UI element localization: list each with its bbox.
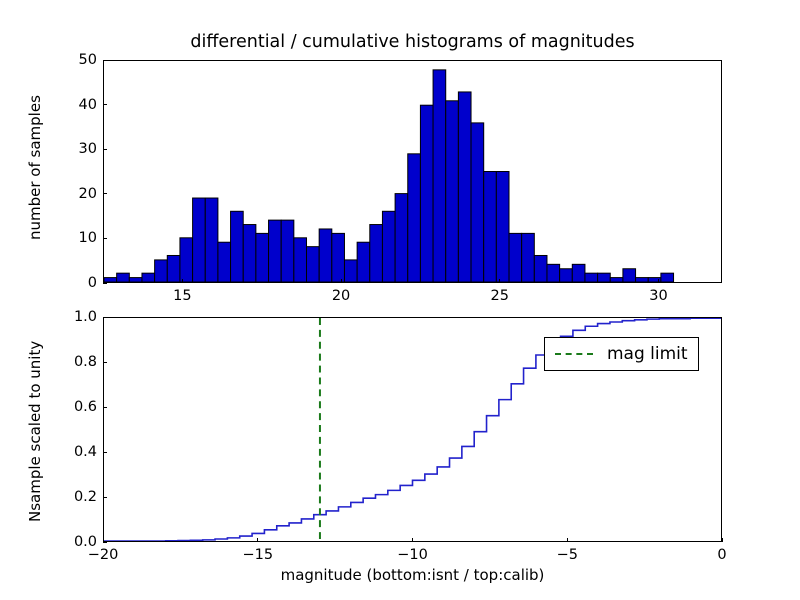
x-tick-label: −15 xyxy=(242,547,273,563)
histogram-bar xyxy=(433,70,446,282)
histogram-bar xyxy=(218,242,231,282)
x-tick-label: 20 xyxy=(332,288,350,304)
histogram-bar xyxy=(585,273,598,282)
y-tickmark xyxy=(103,149,107,150)
cumulative-histogram-axes: mag limit xyxy=(103,317,722,542)
histogram-bar xyxy=(560,269,573,282)
histogram-bar xyxy=(547,264,560,282)
histogram-bar xyxy=(458,92,471,282)
y-tick-label: 0.4 xyxy=(74,444,97,460)
histogram-bar xyxy=(167,255,180,282)
x-tick-label: −20 xyxy=(88,547,119,563)
x-tickmark xyxy=(499,279,500,283)
histogram-bar xyxy=(446,101,459,282)
histogram-bar xyxy=(661,273,674,282)
x-tickmark xyxy=(658,279,659,283)
x-tick-label: 25 xyxy=(491,288,509,304)
bottom-panel-xlabel: magnitude (bottom:isnt / top:calib) xyxy=(103,566,722,584)
histogram-bar xyxy=(129,278,142,282)
histogram-bar xyxy=(332,233,345,282)
histogram-bar xyxy=(142,273,155,282)
legend: mag limit xyxy=(544,337,699,371)
histogram-bar xyxy=(471,123,484,282)
histogram-bar xyxy=(319,229,332,282)
y-tickmark xyxy=(103,452,107,453)
x-tickmark xyxy=(341,279,342,283)
y-tickmark xyxy=(103,407,107,408)
histogram-bar xyxy=(104,278,117,282)
figure-title: differential / cumulative histograms of … xyxy=(103,31,722,53)
differential-histogram-plot xyxy=(104,61,721,282)
y-tick-label: 40 xyxy=(79,97,97,113)
y-tick-label: 0 xyxy=(88,275,97,291)
histogram-bar xyxy=(496,172,509,283)
y-tick-label: 0.8 xyxy=(74,354,97,370)
histogram-bar xyxy=(307,247,320,282)
y-tick-label: 1.0 xyxy=(74,309,97,325)
y-tick-label: 0.2 xyxy=(74,489,97,505)
x-tick-label: −5 xyxy=(557,547,578,563)
top-panel-ylabel: number of samples xyxy=(26,95,44,240)
histogram-bar xyxy=(117,273,130,282)
histogram-bar xyxy=(623,269,636,282)
histogram-bar xyxy=(408,154,421,282)
y-tick-label: 20 xyxy=(79,186,97,202)
mag-limit-line-swatch-icon xyxy=(555,353,593,355)
histogram-bar xyxy=(155,260,168,282)
x-tickmark xyxy=(257,538,258,542)
x-tick-label: 30 xyxy=(649,288,667,304)
histogram-bar xyxy=(294,238,307,282)
histogram-bar xyxy=(420,105,433,282)
histogram-bar xyxy=(370,225,383,282)
histogram-bar xyxy=(509,233,522,282)
y-tickmark xyxy=(103,238,107,239)
x-tick-label: 15 xyxy=(173,288,191,304)
histogram-bar xyxy=(534,255,547,282)
histogram-bar xyxy=(484,172,497,283)
histogram-bar xyxy=(598,273,611,282)
legend-item-label: mag limit xyxy=(607,344,688,364)
histogram-bar xyxy=(395,194,408,282)
histogram-bar xyxy=(269,220,282,282)
x-tickmark xyxy=(722,538,723,542)
y-tickmark xyxy=(103,60,107,61)
histogram-bar xyxy=(382,211,395,282)
histogram-bar xyxy=(344,260,357,282)
y-tickmark xyxy=(103,317,107,318)
y-tick-label: 0.6 xyxy=(74,399,97,415)
y-tick-label: 30 xyxy=(79,141,97,157)
matplotlib-figure: differential / cumulative histograms of … xyxy=(0,0,800,600)
histogram-bar xyxy=(610,278,623,282)
y-tickmark xyxy=(103,362,107,363)
histogram-bar xyxy=(205,198,218,282)
y-tick-label: 50 xyxy=(79,52,97,68)
histogram-bar xyxy=(231,211,244,282)
x-tickmark xyxy=(567,538,568,542)
y-tickmark xyxy=(103,104,107,105)
y-tickmark xyxy=(103,542,107,543)
y-tickmark xyxy=(103,193,107,194)
differential-histogram-axes xyxy=(103,60,722,283)
histogram-bar xyxy=(572,264,585,282)
y-tick-label: 10 xyxy=(79,230,97,246)
histogram-bar xyxy=(636,278,649,282)
x-tick-label: −10 xyxy=(397,547,428,563)
y-tickmark xyxy=(103,283,107,284)
y-tickmark xyxy=(103,497,107,498)
bottom-panel-ylabel: Nsample scaled to unity xyxy=(26,341,44,522)
histogram-bar xyxy=(281,220,294,282)
x-tickmark xyxy=(103,538,104,542)
histogram-bar xyxy=(193,198,206,282)
histogram-bar xyxy=(256,233,269,282)
x-tick-label: 0 xyxy=(717,547,726,563)
histogram-bar xyxy=(357,242,370,282)
histogram-bar xyxy=(522,233,535,282)
x-tickmark xyxy=(412,538,413,542)
x-tickmark xyxy=(182,279,183,283)
histogram-bars xyxy=(104,70,674,282)
histogram-bar xyxy=(180,238,193,282)
histogram-bar xyxy=(243,225,256,282)
